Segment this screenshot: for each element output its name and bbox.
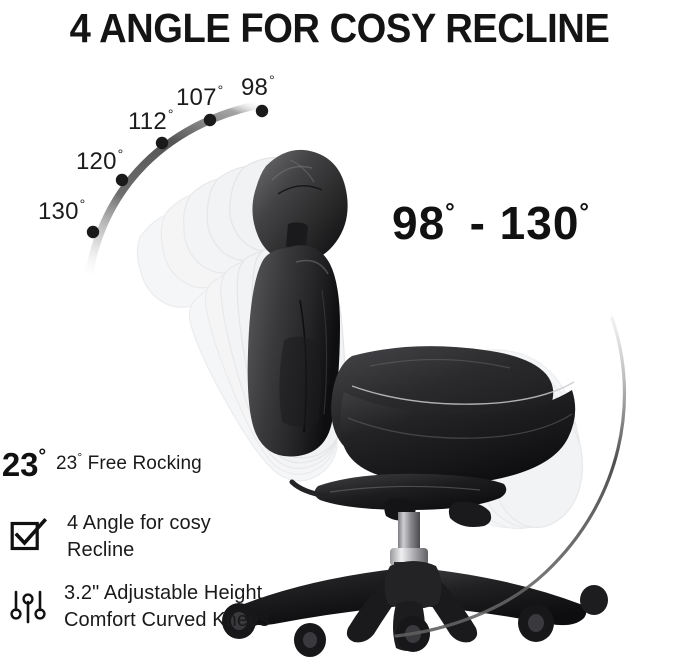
degree-symbol-icon: °	[579, 199, 590, 226]
degree-symbol-icon: °	[269, 72, 275, 88]
degree-23-icon: 23°	[0, 444, 50, 484]
angle-label-130: 130°	[38, 198, 84, 226]
angle-label-107: 107°	[176, 84, 222, 112]
feature-label-adjustable-height: 3.2" Adjustable Height_ Comfort Curved K…	[64, 580, 274, 634]
degree-symbol-icon: °	[118, 146, 124, 162]
feature-label-free-rocking: 23° Free Rocking	[56, 450, 202, 477]
feature-row-free-rocking: 23° 23° Free Rocking	[2, 444, 202, 484]
degree-symbol-icon: °	[445, 199, 456, 226]
degree-symbol-icon: °	[218, 82, 224, 98]
infographic-page: 4 ANGLE FOR COSY RECLINE	[0, 0, 679, 657]
feature-row-recline: 4 Angle for cosy Recline	[8, 508, 211, 564]
feature-label-recline: 4 Angle for cosy Recline	[67, 510, 211, 564]
degree-symbol-icon: °	[80, 196, 86, 212]
degree-symbol-icon: °	[168, 106, 174, 122]
sliders-icon	[8, 586, 50, 628]
angle-label-98: 98°	[241, 74, 274, 102]
recline-range-headline: 98° - 130°	[392, 196, 590, 250]
checkbox-checked-icon	[8, 514, 50, 556]
angle-label-112: 112°	[128, 108, 173, 136]
feature-row-adjustable-height: 3.2" Adjustable Height_ Comfort Curved K…	[8, 578, 274, 634]
chair-backrest	[248, 245, 340, 456]
angle-label-120: 120°	[76, 148, 122, 176]
